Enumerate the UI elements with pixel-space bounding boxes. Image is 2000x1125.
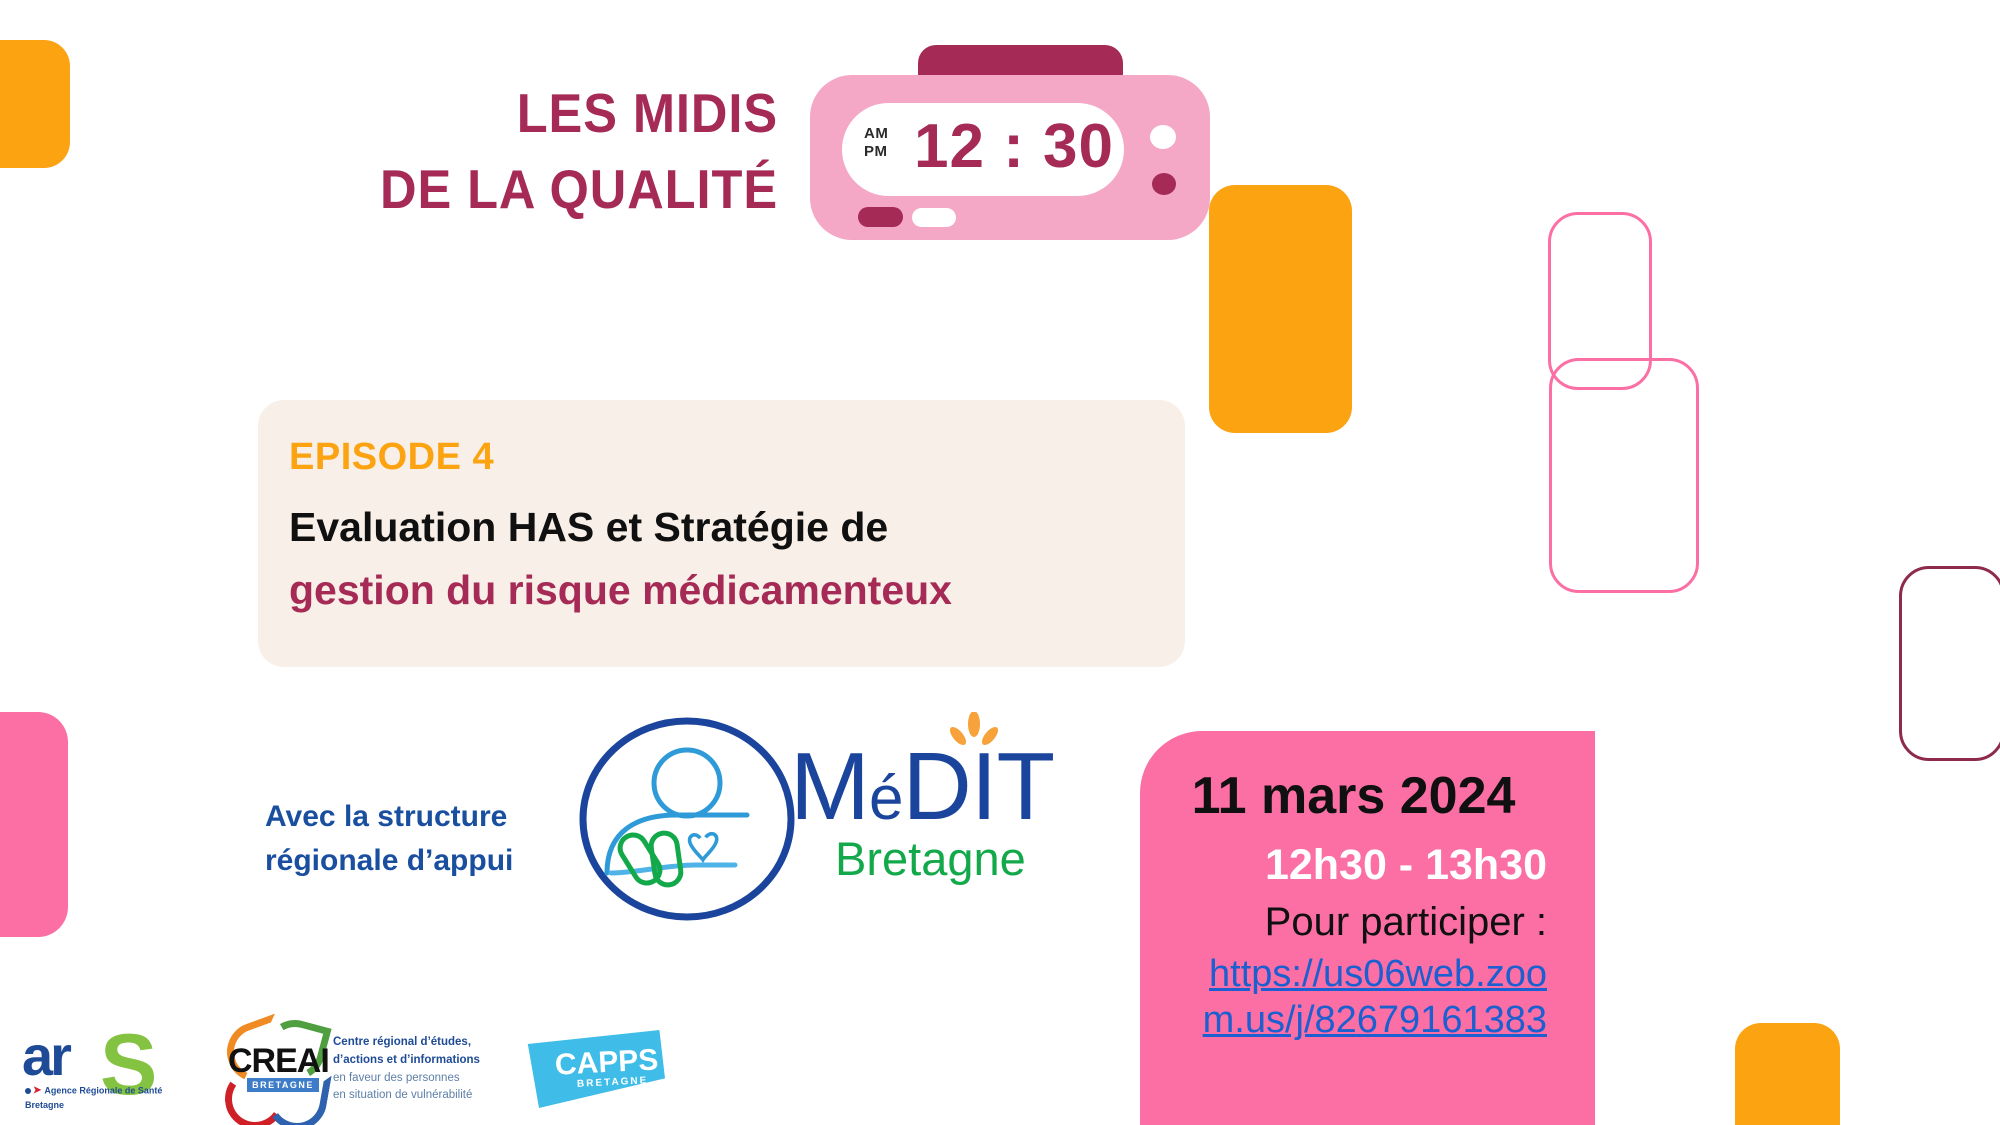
support-structure-line-1: Avec la structure — [265, 795, 513, 839]
medit-logo: MéDIT Bretagne — [575, 715, 1105, 930]
medit-wordmark-e: é — [869, 764, 902, 833]
ars-wordmark-ar: ar — [22, 1028, 69, 1084]
support-structure-line-2: régionale d’appui — [265, 839, 513, 883]
decor-orange-rect-bottom-right — [1735, 1023, 1840, 1125]
clock-ampm-indicator: AM PM — [864, 125, 888, 160]
creai-wordmark: CREAI — [228, 1044, 329, 1078]
episode-card: EPISODE 4 Evaluation HAS et Stratégie de… — [258, 400, 1185, 667]
decor-outline-rect-lower-right — [1899, 566, 2000, 761]
creai-tagline-line-3: en faveur des personnes — [333, 1070, 480, 1088]
capps-region-label: BRETAGNE — [577, 1076, 649, 1090]
title-line-1: LES MIDIS — [300, 76, 778, 152]
ars-arrow-icon: ➤ — [33, 1084, 41, 1099]
medit-wordmark-dit: DIT — [902, 733, 1054, 840]
title-line-2: DE LA QUALITÉ — [300, 152, 778, 228]
page-title: LES MIDIS DE LA QUALITÉ — [258, 76, 778, 228]
episode-title-line-2: gestion du risque médicamenteux — [289, 566, 1185, 615]
clock-pm-label: PM — [864, 143, 888, 161]
clock-time-value: 12 : 30 — [914, 111, 1114, 182]
ars-subtitle: ➤Agence Régionale de Santé Bretagne — [25, 1084, 162, 1112]
episode-title-line-1: Evaluation HAS et Stratégie de — [289, 503, 1185, 552]
medit-wordmark: MéDIT — [790, 739, 1054, 835]
event-time-range: 12h30 - 13h30 — [1168, 842, 1547, 889]
medit-wordmark-m: M — [790, 733, 869, 840]
decor-outline-rect-middle-right — [1549, 358, 1699, 593]
clock-am-label: AM — [864, 125, 888, 143]
creai-tagline-line-2: d’actions et d’informations — [333, 1052, 480, 1070]
event-date: 11 mars 2024 — [1168, 768, 1547, 825]
event-zoom-link-line-2: 679161383 — [1357, 999, 1547, 1041]
decor-orange-rect-left — [0, 40, 70, 168]
clock-speaker-dot-light — [1150, 125, 1176, 149]
event-zoom-link[interactable]: https://us06web.zoom.us/j/82679161383 — [1168, 952, 1547, 1043]
poster-canvas: LES MIDIS DE LA QUALITÉ AM PM 12 : 30 EP… — [0, 0, 2000, 1125]
creai-tagline-line-1: Centre régional d’études, — [333, 1034, 480, 1052]
decor-pink-rect-left — [0, 712, 68, 937]
alarm-clock-icon: AM PM 12 : 30 — [800, 45, 1250, 245]
event-join-label: Pour participer : — [1168, 900, 1547, 944]
support-structure-text: Avec la structure régionale d’appui — [265, 795, 513, 882]
ars-logo: ar S ➤Agence Régionale de Santé Bretagne — [22, 1030, 182, 1120]
clock-button-dark — [858, 207, 903, 227]
creai-logo: CREAI BRETAGNE Centre régional d’études,… — [205, 1022, 385, 1122]
ars-subtitle-line-2: Bretagne — [25, 1099, 162, 1112]
ars-subtitle-line-1: Agence Régionale de Santé — [44, 1086, 162, 1096]
clock-speaker-dot-dark — [1152, 173, 1176, 195]
medit-region-label: Bretagne — [835, 835, 1026, 882]
creai-tagline-line-4: en situation de vulnérabilité — [333, 1087, 480, 1105]
event-details-card: 11 mars 2024 12h30 - 13h30 Pour particip… — [1140, 731, 1595, 1125]
clock-body: AM PM 12 : 30 — [810, 75, 1210, 240]
footer-logo-row: ar S ➤Agence Régionale de Santé Bretagne… — [0, 1020, 700, 1125]
medit-person-circle-icon — [575, 715, 805, 925]
creai-region-label: BRETAGNE — [247, 1078, 319, 1092]
ars-bullet-icon — [25, 1088, 31, 1094]
capps-logo: CAPPS BRETAGNE — [525, 1030, 675, 1115]
creai-tagline: Centre régional d’études, d’actions et d… — [333, 1034, 480, 1105]
clock-button-light — [912, 208, 956, 227]
episode-number-label: EPISODE 4 — [289, 436, 1185, 480]
clock-display: AM PM 12 : 30 — [842, 103, 1124, 196]
